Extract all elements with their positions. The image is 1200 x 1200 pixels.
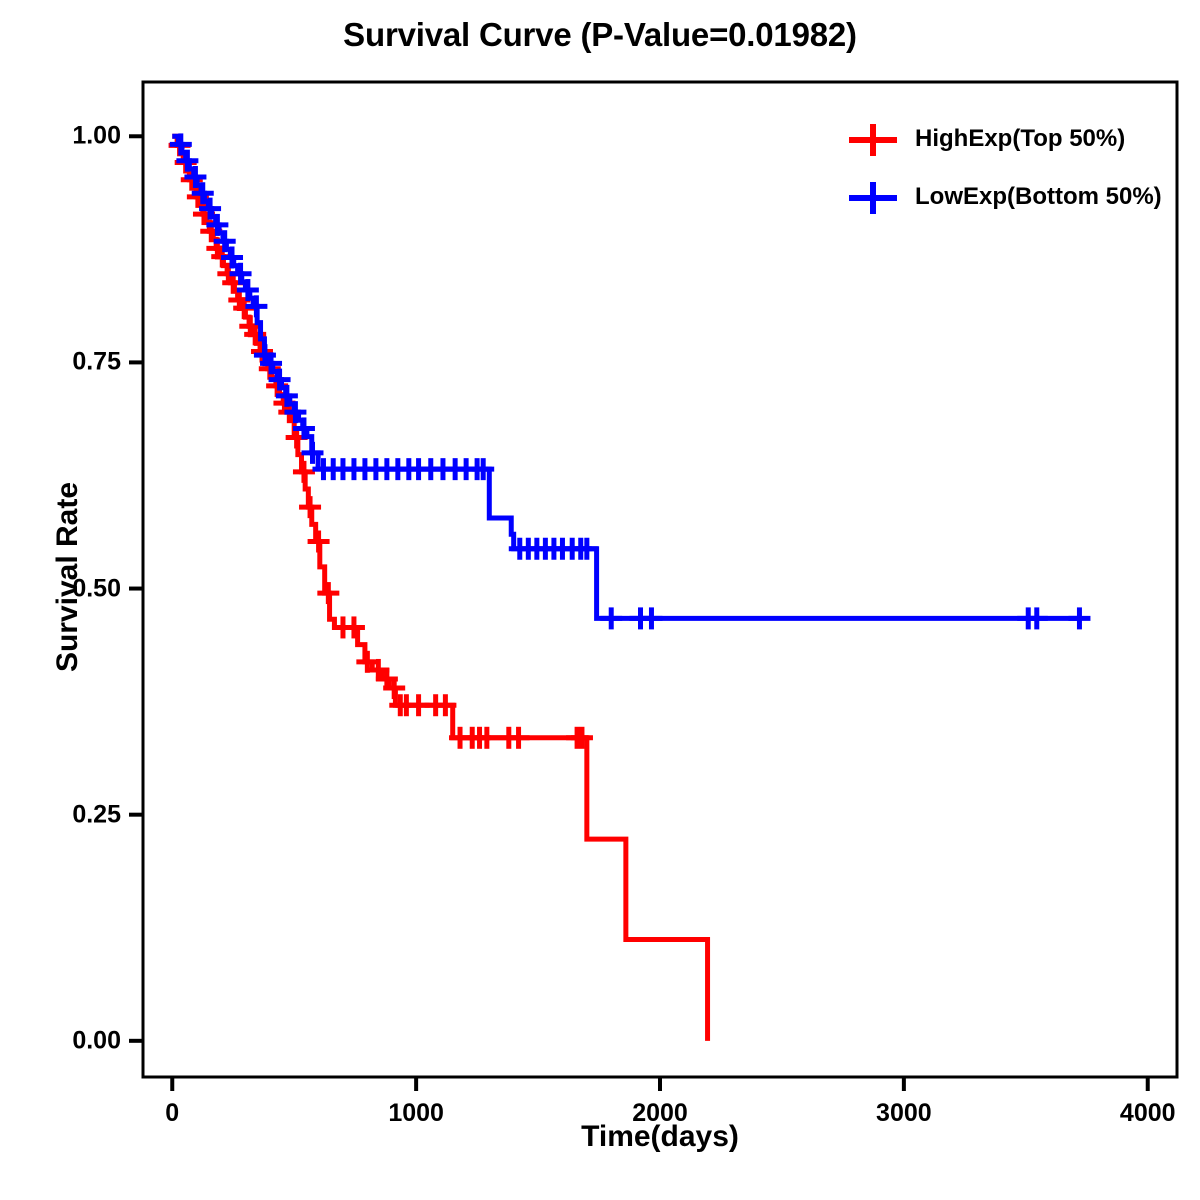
y-tick-label: 1.00 — [21, 122, 121, 151]
y-axis-ticks — [129, 136, 143, 1041]
x-tick-label: 4000 — [1120, 1099, 1176, 1128]
x-tick-label: 2000 — [632, 1099, 688, 1128]
x-tick-label: 1000 — [388, 1099, 444, 1128]
y-tick-label: 0.75 — [21, 348, 121, 377]
x-tick-label: 0 — [165, 1099, 179, 1128]
plot-border — [143, 82, 1177, 1077]
legend-label-1[interactable]: LowExp(Bottom 50%) — [915, 183, 1162, 211]
survival-curve-figure: Survival Curve (P-Value=0.01982) Surviva… — [0, 0, 1200, 1200]
x-axis-ticks — [172, 1077, 1147, 1091]
y-tick-label: 0.50 — [21, 574, 121, 603]
x-tick-label: 3000 — [876, 1099, 932, 1128]
legend-label-0[interactable]: HighExp(Top 50%) — [915, 125, 1125, 153]
y-tick-label: 0.00 — [21, 1026, 121, 1055]
y-tick-label: 0.25 — [21, 800, 121, 829]
plot-canvas — [0, 0, 1200, 1200]
plot-frame — [143, 82, 1177, 1077]
